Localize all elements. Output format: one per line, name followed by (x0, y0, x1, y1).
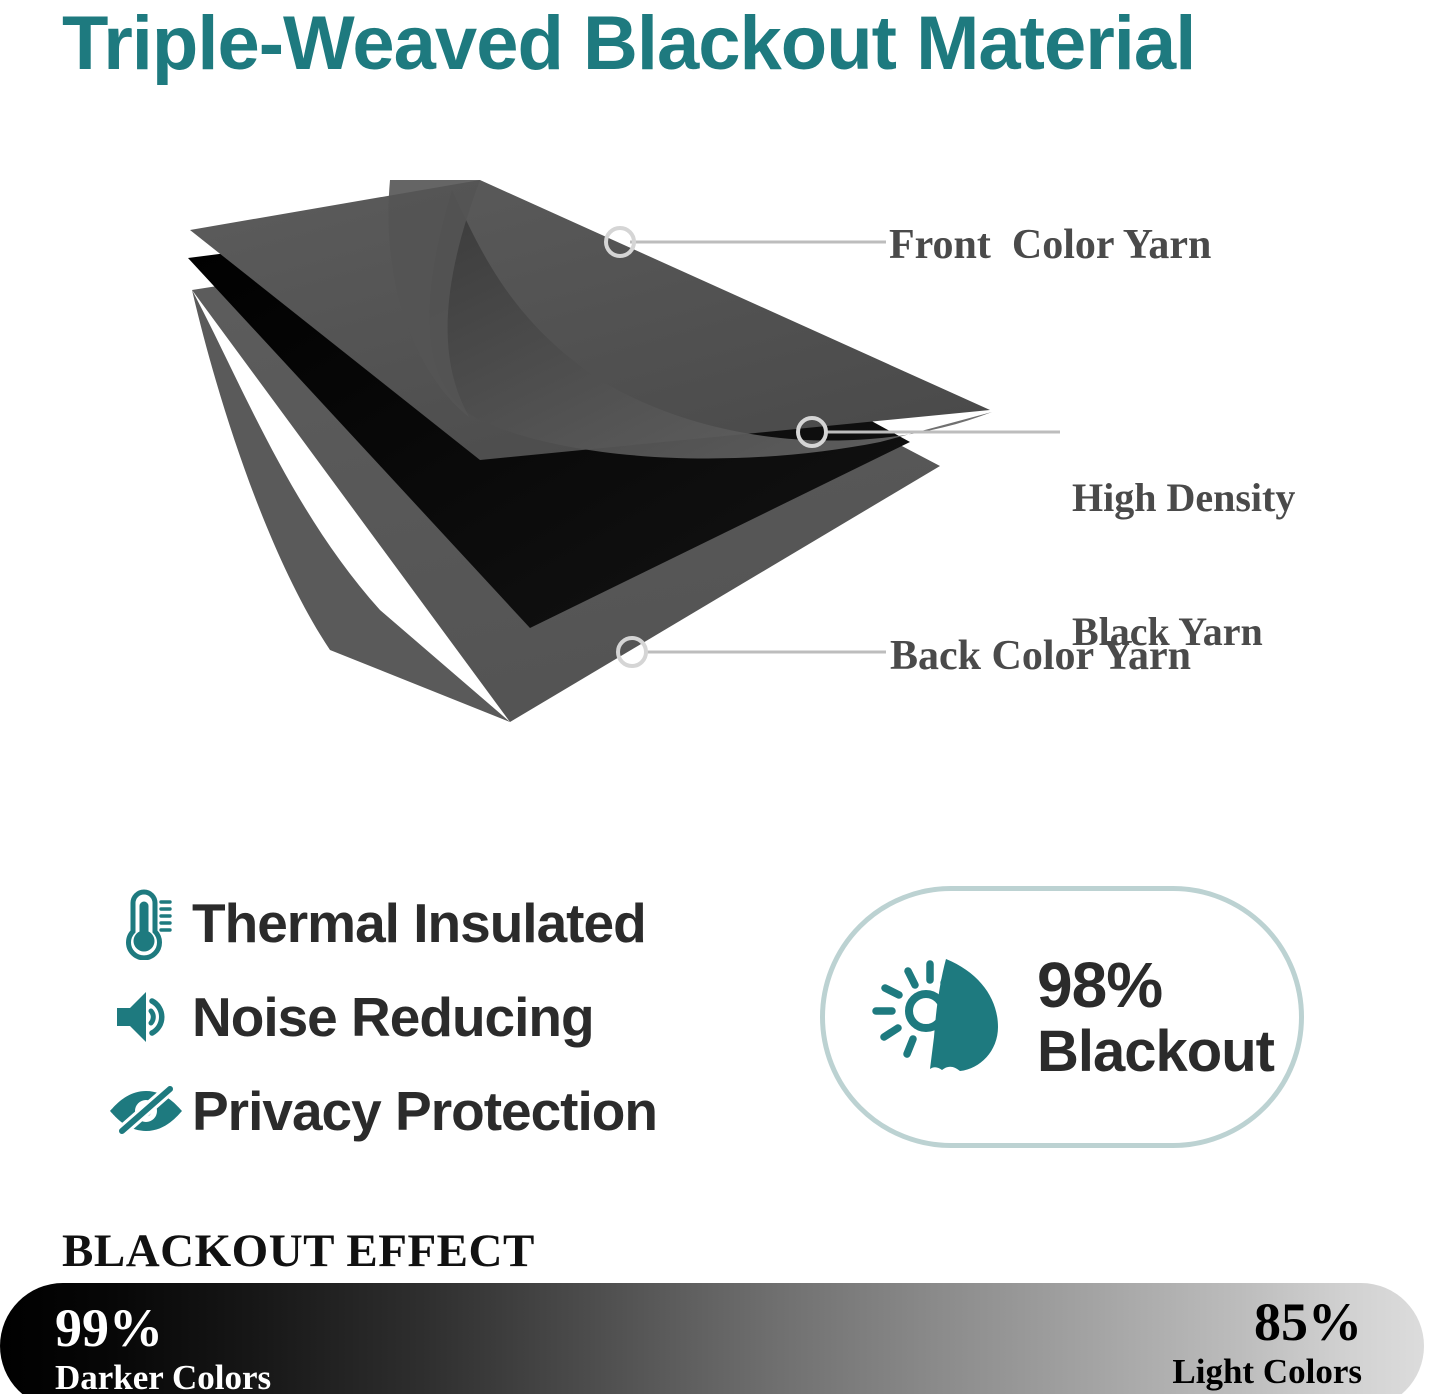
feature-label-noise-reducing: Noise Reducing (192, 985, 594, 1049)
feature-label-privacy-protection: Privacy Protection (192, 1079, 657, 1143)
badge-percent: 98% (1037, 953, 1274, 1017)
gradient-bar-left-stat: 99% Darker Colors (55, 1301, 271, 1394)
speaker-volume-icon (100, 979, 192, 1055)
feature-item-noise-reducing: Noise Reducing (100, 970, 740, 1064)
badge-text-block: 98% Blackout (1037, 953, 1274, 1081)
feature-item-thermal-insulated: Thermal Insulated (100, 876, 740, 970)
sun-blackout-icon (863, 942, 1023, 1092)
gradient-bar-right-percent: 85% (1172, 1295, 1362, 1349)
callout-label-back-color-yarn: Back Color Yarn (890, 633, 1191, 680)
thermometer-icon (100, 885, 192, 961)
callout-label-line-1: High Density (1072, 476, 1295, 521)
gradient-bar-right-stat: 85% Light Colors (1172, 1295, 1362, 1389)
callout-leader-front (606, 228, 886, 256)
gradient-bar-left-caption: Darker Colors (55, 1360, 271, 1394)
feature-label-thermal-insulated: Thermal Insulated (192, 891, 646, 955)
blackout-percentage-badge: 98% Blackout (820, 886, 1304, 1148)
gradient-bar-left-percent: 99% (55, 1301, 271, 1355)
callout-leader-back (618, 638, 886, 666)
eye-slash-icon (100, 1073, 192, 1149)
callout-label-high-density-black-yarn: High Density Black Yarn (1072, 386, 1295, 744)
infographic-page: Triple-Weaved Blackout Material (0, 0, 1445, 1394)
feature-list: Thermal Insulated Noise Reducing (100, 876, 740, 1158)
page-title: Triple-Weaved Blackout Material (62, 0, 1402, 90)
gradient-bar-right-caption: Light Colors (1172, 1354, 1362, 1389)
badge-label: Blackout (1037, 1023, 1274, 1081)
blackout-effect-section-title: BLACKOUT EFFECT (62, 1224, 535, 1278)
callout-label-front-color-yarn: Front Color Yarn (889, 222, 1211, 269)
blackout-effect-gradient-bar: 99% Darker Colors 85% Light Colors (0, 1283, 1424, 1394)
feature-item-privacy-protection: Privacy Protection (100, 1064, 740, 1158)
